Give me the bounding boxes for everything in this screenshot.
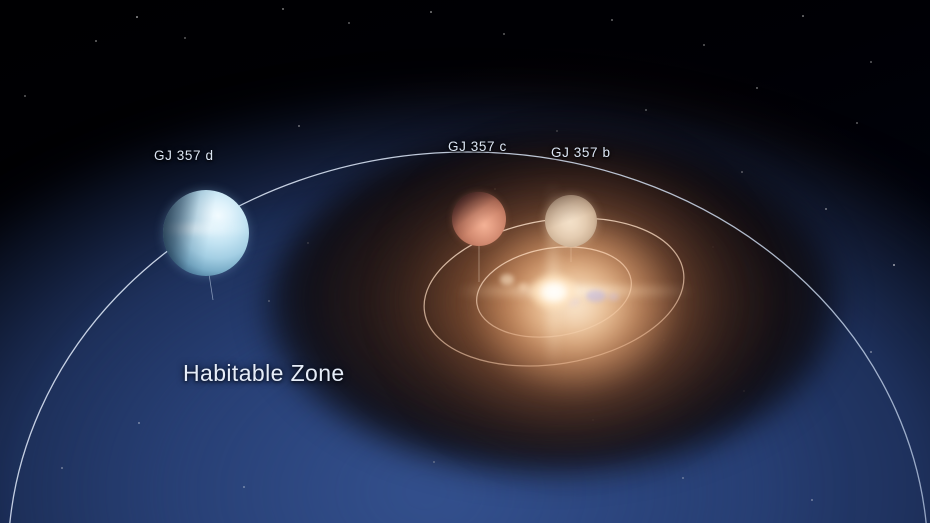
starfield-scene: GJ 357 d GJ 357 c GJ 357 b Habitable Zon… [0, 0, 930, 523]
background-star [825, 208, 826, 209]
background-star [870, 351, 871, 352]
background-star [663, 339, 664, 340]
background-star [61, 467, 62, 468]
star-outer-glow [375, 120, 775, 480]
background-star [893, 264, 895, 266]
background-star [184, 37, 185, 38]
lens-flare-ghost [608, 293, 619, 301]
leader-line-d [209, 274, 213, 300]
background-star [856, 122, 857, 123]
orbit-path-b [470, 236, 638, 347]
background-star [268, 300, 269, 301]
background-star [741, 171, 743, 173]
lens-flare-ghost [519, 283, 528, 291]
background-star [592, 419, 593, 420]
lens-flare-ghost [566, 297, 579, 306]
background-star [95, 40, 96, 41]
host-star [528, 272, 580, 312]
background-star [243, 486, 244, 487]
background-star [494, 188, 496, 190]
background-star [703, 44, 704, 45]
inner-system-disc [255, 120, 915, 523]
planet-gj357d-shadow [163, 190, 249, 276]
background-star [138, 422, 139, 423]
background-star [811, 499, 812, 500]
background-star [136, 16, 138, 18]
background-star [756, 87, 757, 88]
planet-label-gj357c: GJ 357 c [448, 139, 507, 154]
background-star [433, 461, 434, 462]
planet-gj357b-shadow [545, 195, 597, 247]
background-star [430, 11, 432, 13]
background-star [743, 390, 744, 391]
planet-label-gj357b: GJ 357 b [551, 145, 611, 160]
background-star [24, 95, 25, 96]
deep-space-background [0, 0, 930, 523]
planet-gj357c-shadow [452, 192, 506, 246]
background-star [712, 246, 713, 247]
habitable-zone-label: Habitable Zone [183, 360, 345, 387]
lens-flare-ghost [500, 274, 514, 285]
lens-flare-streak [455, 286, 695, 296]
background-star [682, 477, 683, 478]
background-star [503, 33, 504, 34]
background-star [802, 15, 804, 17]
background-star [348, 22, 349, 23]
background-star [282, 8, 283, 9]
planet-label-gj357d: GJ 357 d [154, 148, 214, 163]
background-star [870, 61, 871, 62]
lens-flare-ghost [586, 290, 606, 302]
background-star [298, 125, 299, 126]
background-star [611, 19, 612, 20]
habitable-zone-band [0, 60, 930, 523]
orbit-paths [0, 0, 930, 523]
background-star [645, 109, 646, 110]
background-star [307, 242, 308, 243]
background-star [556, 130, 557, 131]
